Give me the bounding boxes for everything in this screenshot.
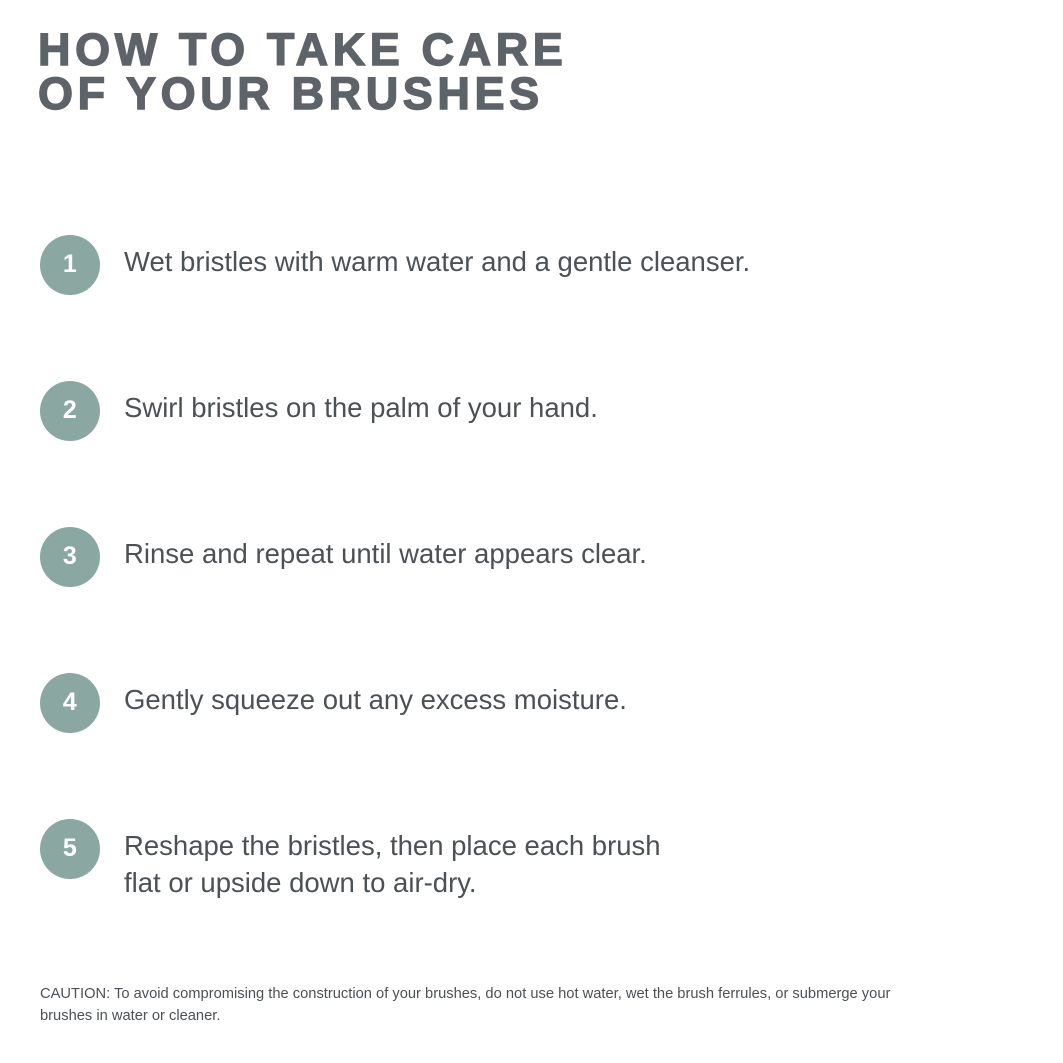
page-title: HOW TO TAKE CARE OF YOUR BRUSHES	[38, 28, 938, 116]
step-text-5: Reshape the bristles, then place each br…	[124, 827, 1004, 901]
step-number-label: 3	[63, 544, 77, 570]
step-number-label: 1	[63, 252, 77, 278]
step-text-3: Rinse and repeat until water appears cle…	[124, 535, 1004, 572]
step-item-3: 3 Rinse and repeat until water appears c…	[0, 513, 1063, 659]
step-text-4: Gently squeeze out any excess moisture.	[124, 681, 1004, 718]
step-number-badge-3: 3	[40, 527, 100, 587]
step-item-4: 4 Gently squeeze out any excess moisture…	[0, 659, 1063, 805]
step-number-label: 2	[63, 398, 77, 424]
step-number-badge-1: 1	[40, 235, 100, 295]
page-title-line-2: OF YOUR BRUSHES	[38, 72, 938, 116]
step-item-1: 1 Wet bristles with warm water and a gen…	[0, 221, 1063, 367]
step-number-badge-4: 4	[40, 673, 100, 733]
page-title-line-1: HOW TO TAKE CARE	[38, 28, 938, 72]
steps-list: 1 Wet bristles with warm water and a gen…	[0, 221, 1063, 805]
step-text-2: Swirl bristles on the palm of your hand.	[124, 389, 1004, 426]
step-number-badge-5: 5	[40, 819, 100, 879]
step-text-1: Wet bristles with warm water and a gentl…	[124, 243, 1004, 280]
step-number-badge-2: 2	[40, 381, 100, 441]
caution-note: CAUTION: To avoid compromising the const…	[40, 984, 930, 1027]
step-number-label: 5	[63, 836, 77, 862]
step-item-2: 2 Swirl bristles on the palm of your han…	[0, 367, 1063, 513]
brush-care-infographic: HOW TO TAKE CARE OF YOUR BRUSHES 1 Wet b…	[0, 0, 1063, 1063]
step-number-label: 4	[63, 690, 77, 716]
